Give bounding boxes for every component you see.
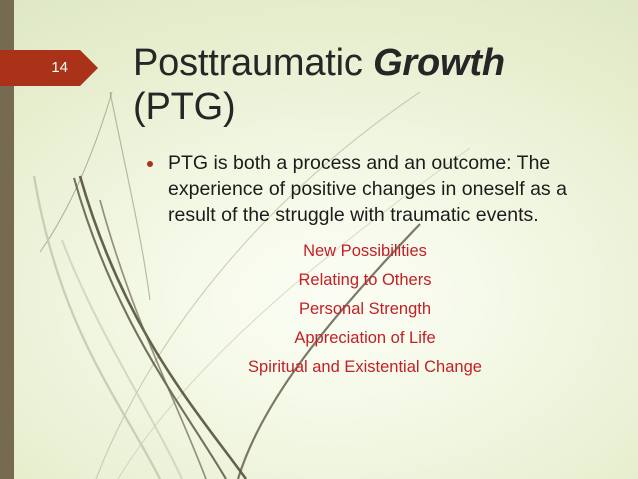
slide-number-badge: 14	[0, 50, 98, 86]
page-title: Posttraumatic Growth (PTG)	[133, 41, 613, 129]
list-item: Relating to Others	[120, 266, 610, 295]
slide-canvas: 14 Posttraumatic Growth (PTG) PTG is bot…	[0, 0, 638, 479]
title-emphasis: Growth	[373, 42, 505, 84]
title-line-2: (PTG)	[133, 86, 235, 128]
body-content: PTG is both a process and an outcome: Th…	[143, 150, 603, 228]
list-item: New Possibilities	[120, 237, 610, 266]
title-prefix: Posttraumatic	[133, 42, 373, 84]
list-item: Spiritual and Existential Change	[120, 353, 610, 382]
bullet-text: PTG is both a process and an outcome: Th…	[168, 152, 567, 226]
list-item: Appreciation of Life	[120, 324, 610, 353]
list-item: PTG is both a process and an outcome: Th…	[143, 150, 603, 228]
list-item: Personal Strength	[120, 295, 610, 324]
ptg-domains-list: New Possibilities Relating to Others Per…	[120, 237, 610, 382]
slide-number-text: 14	[0, 50, 80, 86]
bullet-dot-icon	[147, 161, 153, 167]
